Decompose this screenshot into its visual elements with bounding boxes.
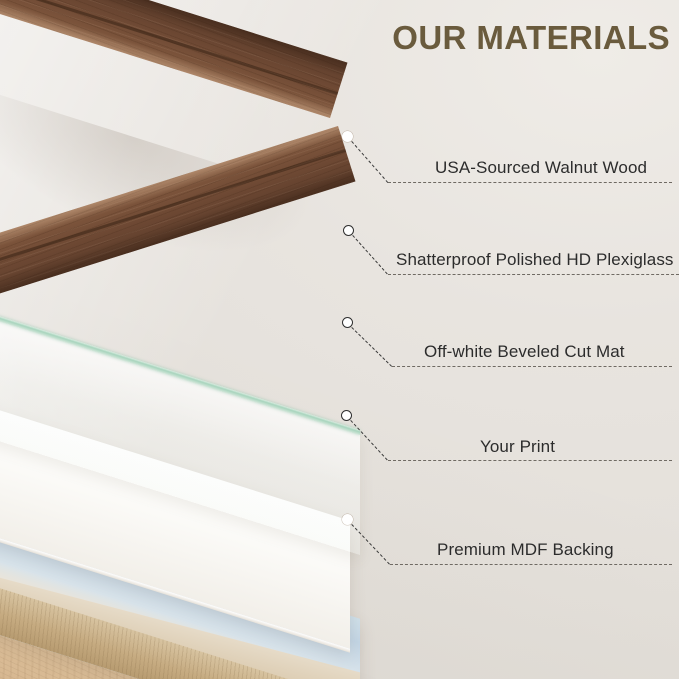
callout-marker-icon	[342, 317, 353, 328]
callout-underline	[388, 274, 679, 275]
callout-underline	[390, 564, 672, 565]
callout-underline	[392, 366, 672, 367]
infographic-canvas: OUR MATERIALS USA-Sourced Walnut WoodSha…	[0, 0, 679, 679]
page-title: OUR MATERIALS	[360, 20, 670, 56]
callout-marker-icon	[343, 225, 354, 236]
callout-label-walnut-wood: USA-Sourced Walnut Wood	[435, 158, 647, 178]
callout-label-plexiglass: Shatterproof Polished HD Plexiglass	[396, 250, 674, 270]
exploded-frame-illustration	[0, 0, 679, 679]
callout-marker-icon	[342, 131, 353, 142]
callout-label-mdf-backing: Premium MDF Backing	[437, 540, 614, 560]
callout-label-your-print: Your Print	[480, 437, 555, 457]
frame-rail-upper	[0, 0, 347, 118]
callout-underline	[388, 460, 672, 461]
callout-label-cut-mat: Off-white Beveled Cut Mat	[424, 342, 625, 362]
callout-marker-icon	[341, 410, 352, 421]
callout-marker-icon	[342, 514, 353, 525]
callout-underline	[388, 182, 672, 183]
